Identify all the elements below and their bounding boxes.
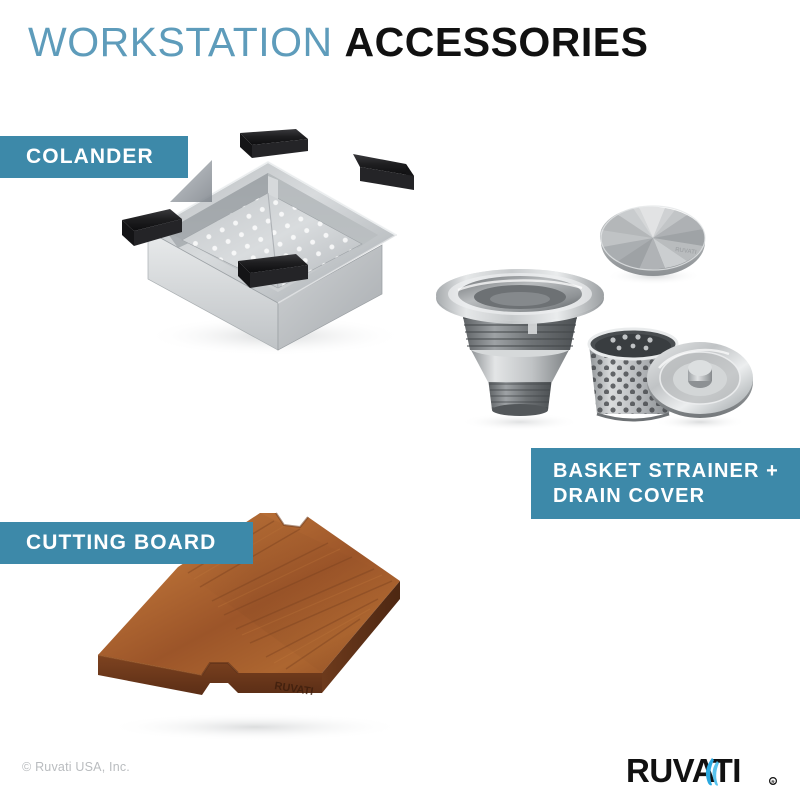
ruvati-logo-text: RUVATI	[626, 752, 741, 789]
page-title: WORKSTATION ACCESSORIES	[28, 22, 649, 63]
label-colander-text: COLANDER	[26, 144, 154, 170]
copyright-text: © Ruvati USA, Inc.	[22, 760, 130, 774]
page-title-part1: WORKSTATION	[28, 19, 333, 65]
label-banner-colander: COLANDER	[0, 136, 188, 178]
label-cutting-board-text: CUTTING BOARD	[26, 530, 216, 556]
drain-cover-image: RUVATI	[596, 196, 714, 286]
label-basket-strainer-line2: DRAIN COVER	[553, 484, 705, 508]
label-basket-strainer-line1: BASKET STRAINER +	[553, 459, 779, 483]
page-title-part2: ACCESSORIES	[345, 19, 649, 65]
label-banner-basket-strainer: BASKET STRAINER + DRAIN COVER	[531, 448, 800, 519]
colander-clip	[353, 154, 414, 190]
strainer-lid-image	[645, 330, 755, 430]
colander-clip	[240, 129, 308, 158]
label-banner-cutting-board: CUTTING BOARD	[0, 522, 253, 564]
ruvati-logo: RUVATI R	[626, 752, 778, 792]
basket-strainer-image	[432, 250, 608, 432]
product-accessories-page: WORKSTATION ACCESSORIES	[0, 0, 800, 800]
